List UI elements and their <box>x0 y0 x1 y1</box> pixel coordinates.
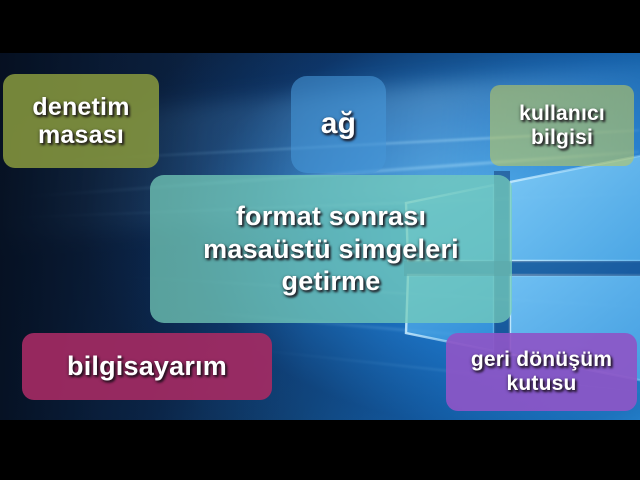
label-text: ağ <box>321 107 356 141</box>
overlay-label-recycle-bin[interactable]: geri dönüşüm kutusu <box>446 333 637 411</box>
letterbox-top-bar <box>0 0 640 53</box>
label-text: kullanıcı bilgisi <box>519 102 605 150</box>
overlay-label-control-panel[interactable]: denetim masası <box>3 74 159 168</box>
overlay-label-user-info[interactable]: kullanıcı bilgisi <box>490 85 634 166</box>
overlay-label-main-title[interactable]: format sonrası masaüstü simgeleri getirm… <box>150 175 512 323</box>
overlay-label-network[interactable]: ağ <box>291 76 386 173</box>
overlay-label-my-computer[interactable]: bilgisayarım <box>22 333 272 400</box>
label-text: denetim masası <box>32 93 129 150</box>
label-text: geri dönüşüm kutusu <box>471 348 612 396</box>
label-text: format sonrası masaüstü simgeleri getirm… <box>203 200 459 299</box>
label-text: bilgisayarım <box>67 351 227 382</box>
video-frame: denetim masası ağ kullanıcı bilgisi form… <box>0 0 640 480</box>
letterbox-bottom-bar <box>0 420 640 480</box>
